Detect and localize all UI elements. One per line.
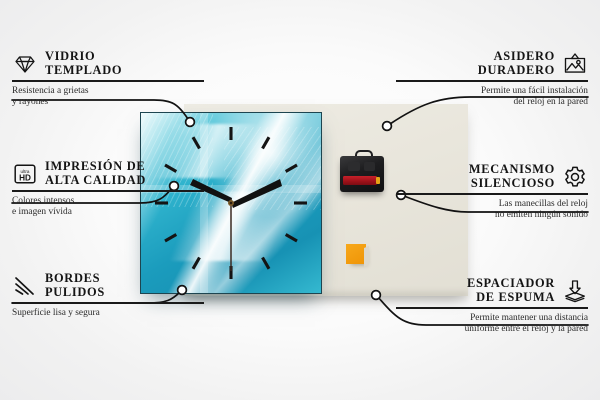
divider bbox=[396, 307, 588, 308]
feature-desc: del reloj en la pared bbox=[396, 97, 588, 108]
infographic-canvas: VIDRIO TEMPLADO Resistencia a grietas y … bbox=[0, 0, 600, 400]
feature-asidero-duradero: ASIDERO DURADERO Permite una fácil insta… bbox=[396, 50, 588, 108]
connector-dot bbox=[186, 118, 195, 127]
diagonal-lines-icon bbox=[12, 273, 38, 299]
hanging-frame-icon bbox=[562, 51, 588, 77]
feature-title: ESPACIADOR bbox=[467, 277, 555, 291]
feature-title: IMPRESIÓN DE bbox=[45, 160, 146, 174]
diamond-icon bbox=[12, 51, 38, 77]
feature-title: PULIDOS bbox=[45, 286, 105, 300]
feature-desc: Superficie lisa y segura bbox=[12, 308, 204, 319]
connector-dot bbox=[383, 122, 392, 131]
feature-title: MECANISMO bbox=[469, 163, 555, 177]
feature-desc: Las manecillas del reloj bbox=[396, 199, 588, 210]
feature-desc: Permite mantener una distancia bbox=[396, 313, 588, 324]
feature-title: DE ESPUMA bbox=[467, 291, 555, 305]
svg-text:HD: HD bbox=[19, 173, 31, 182]
feature-bordes-pulidos: BORDES PULIDOS Superficie lisa y segura bbox=[12, 272, 204, 319]
feature-title: BORDES bbox=[45, 272, 105, 286]
feature-desc: Colores intensos bbox=[12, 196, 204, 207]
press-down-layers-icon bbox=[562, 278, 588, 304]
feature-title: TEMPLADO bbox=[45, 64, 122, 78]
feature-mecanismo-silencioso: MECANISMO SILENCIOSO Las manecillas del … bbox=[396, 163, 588, 221]
divider bbox=[12, 80, 204, 81]
feature-impresion-alta-calidad: ultra HD IMPRESIÓN DE ALTA CALIDAD Color… bbox=[12, 160, 204, 218]
feature-title: DURADERO bbox=[478, 64, 555, 78]
feature-desc: Resistencia a grietas bbox=[12, 86, 204, 97]
feature-title: SILENCIOSO bbox=[469, 177, 555, 191]
ultra-hd-icon: ultra HD bbox=[12, 161, 38, 187]
feature-title: ASIDERO bbox=[478, 50, 555, 64]
feature-espaciador-de-espuma: ESPACIADOR DE ESPUMA Permite mantener un… bbox=[396, 277, 588, 335]
connector-dot bbox=[372, 291, 381, 300]
feature-desc: e imagen vívida bbox=[12, 207, 204, 218]
divider bbox=[12, 302, 204, 303]
divider bbox=[396, 193, 588, 194]
feature-vidrio-templado: VIDRIO TEMPLADO Resistencia a grietas y … bbox=[12, 50, 204, 108]
divider bbox=[396, 80, 588, 81]
feature-title: VIDRIO bbox=[45, 50, 122, 64]
feature-desc: uniforme entre el reloj y la pared bbox=[396, 324, 588, 335]
gear-icon bbox=[562, 164, 588, 190]
divider bbox=[12, 190, 204, 191]
feature-title: ALTA CALIDAD bbox=[45, 174, 146, 188]
feature-desc: y rayones bbox=[12, 97, 204, 108]
feature-desc: Permite una fácil instalación bbox=[396, 86, 588, 97]
feature-desc: no emiten ningún sonido bbox=[396, 210, 588, 221]
